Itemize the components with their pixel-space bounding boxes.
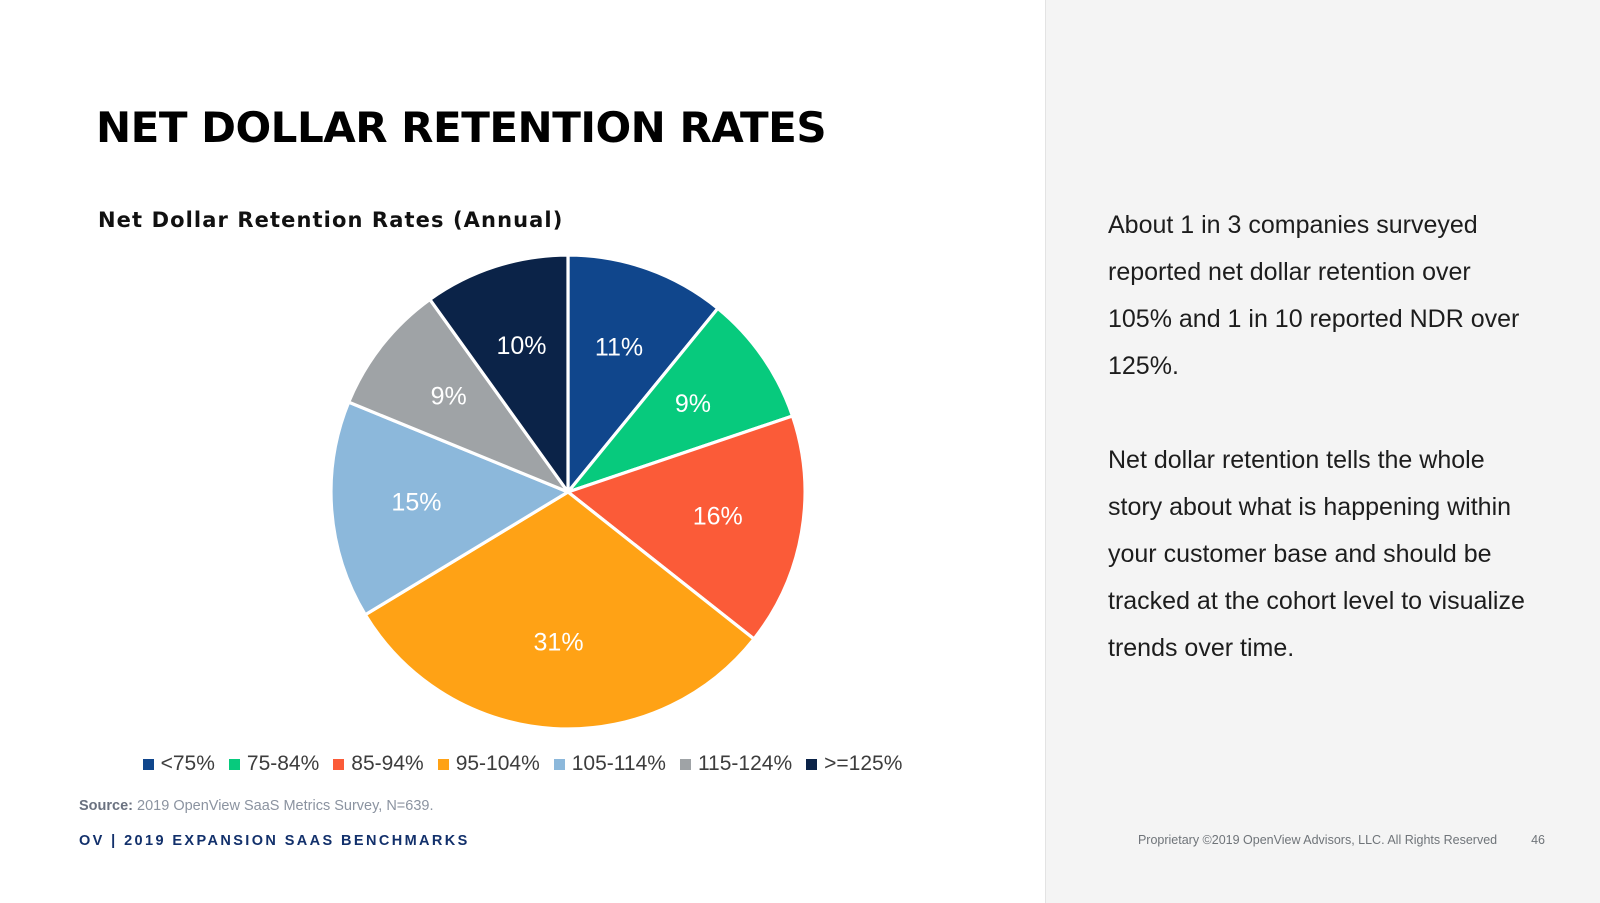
pie-slice-label: 31% <box>534 628 584 656</box>
brand-footer: OV | 2019 EXPANSION SAAS BENCHMARKS <box>79 833 470 849</box>
page-number: 46 <box>1531 833 1545 847</box>
pie-slice-label: 9% <box>431 382 467 410</box>
legend-label: >=125% <box>824 752 902 776</box>
source-note: Source: 2019 OpenView SaaS Metrics Surve… <box>79 798 434 814</box>
pie-slice-label: 16% <box>693 502 743 530</box>
legend-item[interactable]: 75-84% <box>229 752 319 776</box>
pie-slice-label: 9% <box>675 390 711 418</box>
source-text: 2019 OpenView SaaS Metrics Survey, N=639… <box>133 798 434 814</box>
source-label: Source: <box>79 798 133 814</box>
right-footer: Proprietary ©2019 OpenView Advisors, LLC… <box>1046 833 1600 847</box>
proprietary-notice: Proprietary ©2019 OpenView Advisors, LLC… <box>1138 833 1497 847</box>
legend-swatch-icon <box>143 759 154 770</box>
pie-chart-svg: 11%9%16%31%15%9%10% <box>328 252 808 732</box>
legend-item[interactable]: 85-94% <box>333 752 423 776</box>
pie-chart: 11%9%16%31%15%9%10% <box>328 252 808 732</box>
chart-title: Net Dollar Retention Rates (Annual) <box>98 208 563 232</box>
legend-item[interactable]: <75% <box>143 752 215 776</box>
legend-swatch-icon <box>806 759 817 770</box>
legend-item[interactable]: 105-114% <box>554 752 666 776</box>
pie-slice-label: 15% <box>391 488 441 516</box>
legend-label: <75% <box>161 752 215 776</box>
legend-item[interactable]: >=125% <box>806 752 902 776</box>
legend-item[interactable]: 95-104% <box>438 752 540 776</box>
page-title: NET DOLLAR RETENTION RATES <box>96 103 826 152</box>
pie-slice-label: 11% <box>595 333 643 361</box>
pie-slice-label: 10% <box>496 332 546 360</box>
legend-item[interactable]: 115-124% <box>680 752 792 776</box>
legend-swatch-icon <box>680 759 691 770</box>
chart-legend: <75%75-84%85-94%95-104%105-114%115-124%>… <box>0 752 1045 776</box>
legend-swatch-icon <box>333 759 344 770</box>
legend-swatch-icon <box>438 759 449 770</box>
legend-swatch-icon <box>229 759 240 770</box>
legend-label: 75-84% <box>247 752 319 776</box>
left-content-panel: NET DOLLAR RETENTION RATES Net Dollar Re… <box>0 0 1045 903</box>
slide-root: NET DOLLAR RETENTION RATES Net Dollar Re… <box>0 0 1600 903</box>
legend-label: 85-94% <box>351 752 423 776</box>
commentary-paragraph-1: About 1 in 3 companies surveyed reported… <box>1108 202 1528 390</box>
legend-label: 115-124% <box>698 752 792 776</box>
commentary-body: About 1 in 3 companies surveyed reported… <box>1108 202 1528 672</box>
legend-label: 105-114% <box>572 752 666 776</box>
right-commentary-panel: About 1 in 3 companies surveyed reported… <box>1045 0 1600 903</box>
commentary-paragraph-2: Net dollar retention tells the whole sto… <box>1108 437 1528 672</box>
legend-label: 95-104% <box>456 752 540 776</box>
legend-swatch-icon <box>554 759 565 770</box>
